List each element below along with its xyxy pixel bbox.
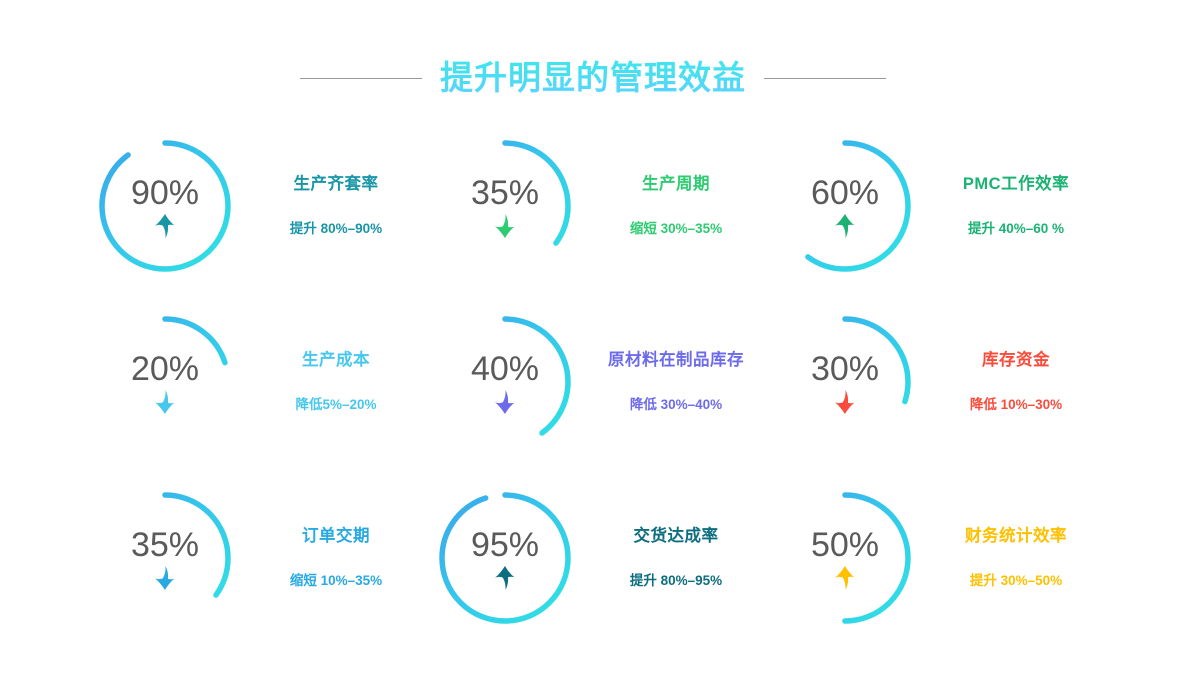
gauge-value: 40%: [471, 352, 539, 386]
metric-card-production-cycle: 35%生产周期缩短 30%–35%: [424, 118, 764, 294]
metric-title: 生产齐套率: [294, 175, 379, 195]
metric-subtitle: 提升 80%–95%: [630, 573, 722, 589]
gauge-ring: 60%: [772, 133, 918, 279]
metric-labels: 财务统计效率提升 30%–50%: [932, 527, 1100, 590]
metric-subtitle: 降低 10%–30%: [970, 397, 1062, 413]
gauge-ring: 35%: [432, 133, 578, 279]
title-rule-left: [300, 78, 422, 79]
metric-grid: 90%生产齐套率提升 80%–90%35%生产周期缩短 30%–35%60%PM…: [84, 118, 1104, 646]
arrow-down-icon: [834, 389, 856, 415]
metric-title: 财务统计效率: [965, 527, 1067, 547]
metric-card-production-kitting-rate: 90%生产齐套率提升 80%–90%: [84, 118, 424, 294]
arrow-down-icon: [494, 389, 516, 415]
gauge-value: 35%: [131, 528, 199, 562]
metric-labels: 订单交期缩短 10%–35%: [252, 527, 420, 590]
gauge-ring: 90%: [92, 133, 238, 279]
metric-title: 生产成本: [302, 351, 370, 371]
gauge-center: 40%: [432, 309, 578, 455]
gauge-center: 95%: [432, 485, 578, 631]
gauge-ring: 50%: [772, 485, 918, 631]
gauge-ring: 20%: [92, 309, 238, 455]
title-rule-right: [764, 78, 886, 79]
metric-card-financial-statistics-efficiency: 50%财务统计效率提升 30%–50%: [764, 470, 1104, 646]
metric-labels: 原材料在制品库存降低 30%–40%: [592, 351, 760, 414]
gauge-value: 20%: [131, 352, 199, 386]
metric-subtitle: 降低5%–20%: [295, 397, 376, 413]
metric-subtitle: 提升 80%–90%: [290, 221, 382, 237]
metric-card-order-lead-time: 35%订单交期缩短 10%–35%: [84, 470, 424, 646]
gauge-value: 90%: [131, 176, 199, 210]
gauge-value: 30%: [811, 352, 879, 386]
metric-labels: 生产周期缩短 30%–35%: [592, 175, 760, 238]
metric-card-pmc-work-efficiency: 60%PMC工作效率提升 40%–60 %: [764, 118, 1104, 294]
gauge-center: 60%: [772, 133, 918, 279]
gauge-center: 50%: [772, 485, 918, 631]
gauge-center: 35%: [432, 133, 578, 279]
page-header: 提升明显的管理效益: [0, 52, 1186, 104]
gauge-center: 20%: [92, 309, 238, 455]
arrow-up-icon: [494, 565, 516, 591]
metric-card-raw-material-wip-inventory: 40%原材料在制品库存降低 30%–40%: [424, 294, 764, 470]
metric-labels: 生产齐套率提升 80%–90%: [252, 175, 420, 238]
metric-subtitle: 提升 40%–60 %: [968, 221, 1064, 237]
metric-card-delivery-achievement-rate: 95%交货达成率提升 80%–95%: [424, 470, 764, 646]
metric-subtitle: 缩短 30%–35%: [630, 221, 722, 237]
metric-title: 生产周期: [642, 175, 710, 195]
arrow-up-icon: [834, 565, 856, 591]
gauge-ring: 35%: [92, 485, 238, 631]
metric-labels: 交货达成率提升 80%–95%: [592, 527, 760, 590]
metric-labels: PMC工作效率提升 40%–60 %: [932, 175, 1100, 238]
arrow-down-icon: [154, 565, 176, 591]
arrow-down-icon: [494, 213, 516, 239]
metric-subtitle: 提升 30%–50%: [970, 573, 1062, 589]
metric-title: 库存资金: [982, 351, 1050, 371]
gauge-value: 95%: [471, 528, 539, 562]
page-title: 提升明显的管理效益: [440, 56, 746, 100]
gauge-center: 30%: [772, 309, 918, 455]
metric-subtitle: 缩短 10%–35%: [290, 573, 382, 589]
arrow-up-icon: [154, 213, 176, 239]
gauge-center: 35%: [92, 485, 238, 631]
gauge-value: 35%: [471, 176, 539, 210]
gauge-value: 60%: [811, 176, 879, 210]
metric-title: 订单交期: [302, 527, 370, 547]
metric-subtitle: 降低 30%–40%: [630, 397, 722, 413]
gauge-ring: 40%: [432, 309, 578, 455]
gauge-center: 90%: [92, 133, 238, 279]
gauge-value: 50%: [811, 528, 879, 562]
metric-title: 交货达成率: [634, 527, 719, 547]
metric-labels: 生产成本降低5%–20%: [252, 351, 420, 414]
metric-card-inventory-capital: 30%库存资金降低 10%–30%: [764, 294, 1104, 470]
metric-title: 原材料在制品库存: [608, 351, 744, 371]
metric-title: PMC工作效率: [963, 175, 1069, 195]
metric-card-production-cost: 20%生产成本降低5%–20%: [84, 294, 424, 470]
arrow-down-icon: [154, 389, 176, 415]
metric-labels: 库存资金降低 10%–30%: [932, 351, 1100, 414]
arrow-up-icon: [834, 213, 856, 239]
gauge-ring: 30%: [772, 309, 918, 455]
gauge-ring: 95%: [432, 485, 578, 631]
